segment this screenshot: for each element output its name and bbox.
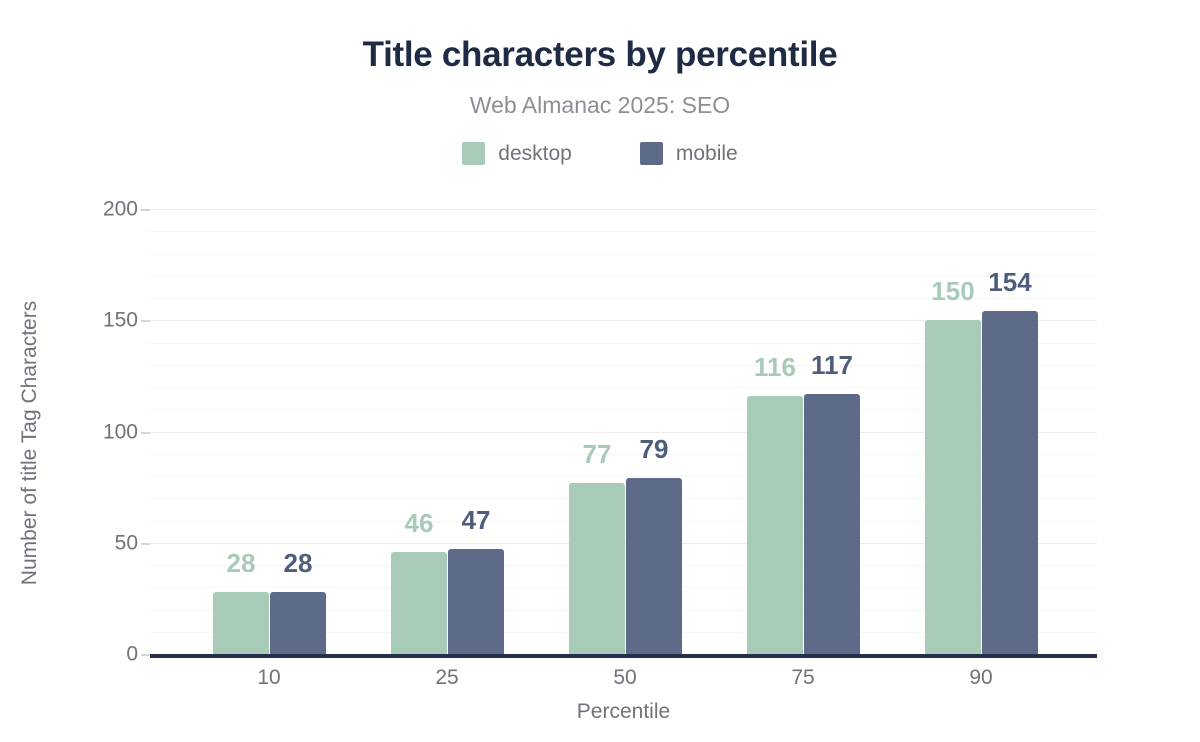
bar-value-label: 28	[284, 550, 313, 576]
bar-desktop-p50[interactable]	[569, 483, 625, 654]
gridline	[150, 254, 1097, 255]
bar-mobile-p75[interactable]	[804, 394, 860, 654]
x-axis-tick-label: 50	[613, 665, 636, 691]
chart-title: Title characters by percentile	[0, 33, 1200, 77]
plot-area: 282846477779116117150154	[150, 209, 1097, 654]
bar-mobile-p25[interactable]	[448, 549, 504, 654]
y-axis-tick-label: 200	[103, 199, 138, 220]
legend-label-desktop: desktop	[498, 142, 572, 165]
bar-value-label: 47	[462, 507, 491, 533]
bar-desktop-p90[interactable]	[925, 320, 981, 654]
x-axis-line	[150, 654, 1097, 658]
legend-item-desktop[interactable]: desktop	[462, 142, 572, 165]
x-axis-tick-label: 75	[791, 665, 814, 691]
y-axis-tick-label: 150	[103, 310, 138, 331]
legend-item-mobile[interactable]: mobile	[640, 142, 738, 165]
bar-value-label: 116	[754, 354, 796, 380]
bar-value-label: 117	[811, 352, 853, 378]
y-axis-tick-label: 50	[115, 532, 138, 553]
y-axis-tick-mark	[141, 320, 150, 322]
legend-swatch-desktop	[462, 142, 485, 165]
bar-value-label: 150	[931, 278, 974, 304]
bar-chart: Title characters by percentile Web Alman…	[0, 0, 1200, 742]
y-axis-tick-mark	[141, 654, 150, 656]
bar-value-label: 79	[640, 436, 669, 462]
legend-swatch-mobile	[640, 142, 663, 165]
bar-value-label: 46	[405, 510, 434, 536]
bar-desktop-p10[interactable]	[213, 592, 269, 654]
x-axis-tick-label: 10	[257, 665, 280, 691]
bar-mobile-p50[interactable]	[626, 478, 682, 654]
gridline	[150, 231, 1097, 232]
y-axis-tick-label: 0	[126, 644, 138, 665]
bar-value-label: 77	[583, 441, 612, 467]
y-axis-tick-label: 100	[103, 421, 138, 442]
bar-mobile-p10[interactable]	[270, 592, 326, 654]
y-axis-tick-mark	[141, 543, 150, 545]
y-axis-tick-mark	[141, 432, 150, 434]
bar-value-label: 28	[227, 550, 256, 576]
y-axis-tick-mark	[141, 209, 150, 211]
bar-desktop-p25[interactable]	[391, 552, 447, 654]
bar-desktop-p75[interactable]	[747, 396, 803, 654]
bar-mobile-p90[interactable]	[982, 311, 1038, 654]
legend-label-mobile: mobile	[676, 142, 738, 165]
x-axis-tick-label: 90	[969, 665, 992, 691]
chart-legend: desktop mobile	[0, 142, 1200, 165]
x-axis-title: Percentile	[150, 700, 1097, 724]
chart-subtitle: Web Almanac 2025: SEO	[0, 90, 1200, 120]
x-axis-tick-label: 25	[435, 665, 458, 691]
y-axis-title: Number of title Tag Characters	[18, 183, 42, 703]
gridline	[150, 209, 1097, 210]
bar-value-label: 154	[988, 269, 1031, 295]
